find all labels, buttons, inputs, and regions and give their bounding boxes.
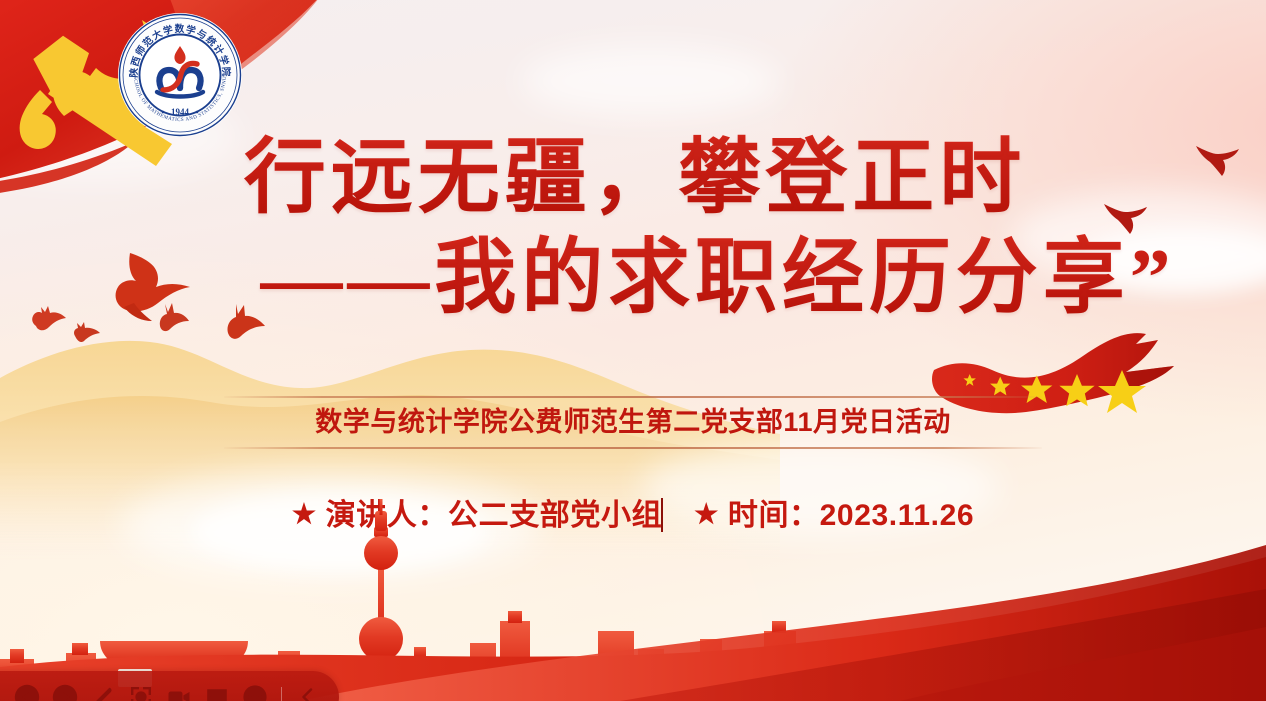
- record-button[interactable]: [160, 678, 198, 701]
- previous-slide-button[interactable]: [8, 678, 46, 701]
- spotlight-target-icon: [128, 684, 154, 701]
- subtitle-block: 数学与统计学院公费师范生第二党支部11月党日活动: [0, 396, 1266, 449]
- spotlight-button[interactable]: [122, 678, 160, 701]
- pen-icon: [90, 684, 116, 701]
- school-logo: 陕西师范大学数学与统计学院 SCHOOL OF MATHEMATICS AND …: [117, 12, 243, 138]
- title-line-2: ——我的求职经历分享”: [0, 228, 1266, 328]
- divider-bottom: [224, 447, 1042, 449]
- play-forward-icon: [52, 684, 78, 701]
- next-slide-button[interactable]: [46, 678, 84, 701]
- bottom-decoration: [0, 471, 1266, 701]
- slideshow-toolbar[interactable]: [0, 671, 339, 701]
- notes-button[interactable]: [198, 678, 236, 701]
- chevron-left-icon: [297, 686, 319, 701]
- play-back-icon: [14, 684, 40, 701]
- video-camera-icon: [166, 684, 192, 701]
- speech-bubble-icon: [204, 684, 230, 701]
- logo-year: 1944: [171, 107, 190, 117]
- pen-tool-button[interactable]: [84, 678, 122, 701]
- collapse-toolbar-button[interactable]: [289, 678, 327, 701]
- toolbar-separator: [281, 687, 282, 701]
- title-block: 行远无疆，攀登正时 ——我的求职经历分享”: [0, 128, 1266, 328]
- presentation-slide: 陕西师范大学数学与统计学院 SCHOOL OF MATHEMATICS AND …: [0, 0, 1266, 701]
- subtitle-text: 数学与统计学院公费师范生第二党支部11月党日活动: [0, 398, 1266, 447]
- ellipsis-icon: [242, 684, 268, 701]
- cloud-puff: [520, 46, 780, 116]
- more-options-button[interactable]: [236, 678, 274, 701]
- title-line-1: 行远无疆，攀登正时: [0, 128, 1266, 228]
